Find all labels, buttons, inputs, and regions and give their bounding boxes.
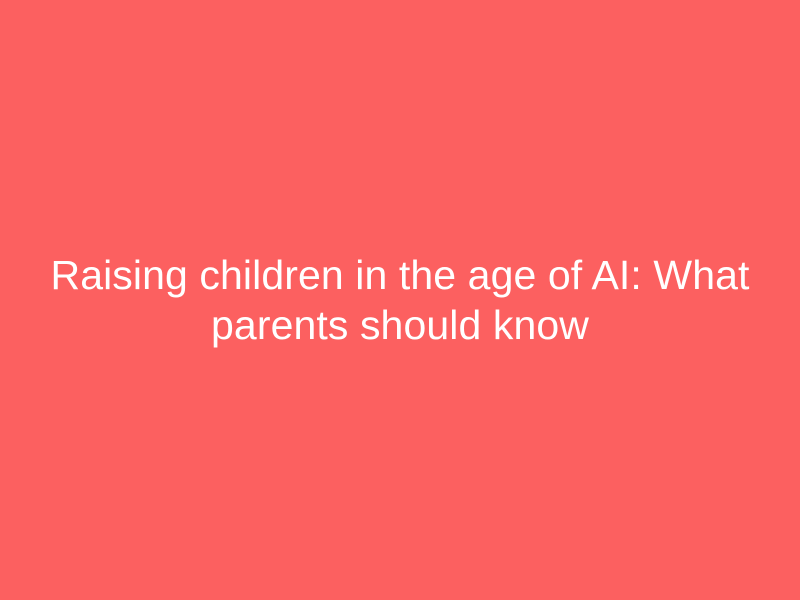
headline-title: Raising children in the age of AI: What … bbox=[50, 250, 750, 350]
hero-card: Raising children in the age of AI: What … bbox=[0, 0, 800, 600]
